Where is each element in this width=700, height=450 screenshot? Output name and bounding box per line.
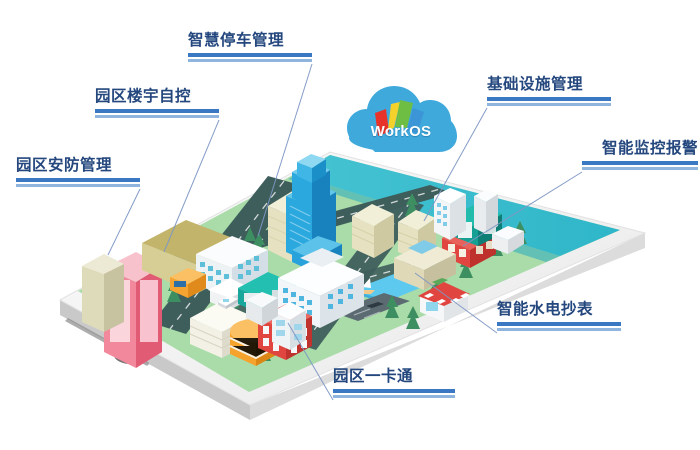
tower-grey-right: [474, 190, 498, 234]
label-metering[interactable]: 智能水电抄表: [497, 301, 621, 328]
workos-cloud-logo: WorkOS: [345, 78, 457, 160]
label-security[interactable]: 园区安防管理: [16, 157, 140, 184]
label-parking-text: 智慧停车管理: [188, 32, 312, 50]
label-security-underline: [16, 178, 140, 184]
label-building-underline: [95, 109, 219, 115]
label-infrastructure-text: 基础设施管理: [487, 76, 611, 94]
label-parking[interactable]: 智慧停车管理: [188, 32, 312, 59]
label-building[interactable]: 园区楼宇自控: [95, 88, 219, 115]
label-metering-underline: [497, 322, 621, 328]
label-metering-text: 智能水电抄表: [497, 301, 621, 319]
logo-text: WorkOS: [345, 123, 457, 140]
label-monitoring[interactable]: 智能监控报警: [582, 140, 698, 167]
diagram-stage: WorkOS 智慧停车管理园区楼宇自控园区安防管理基础设施管理智能监控报警智能水…: [0, 0, 700, 450]
label-monitoring-underline: [582, 161, 698, 167]
label-parking-underline: [188, 53, 312, 59]
label-security-text: 园区安防管理: [16, 157, 140, 175]
tower-white-right: [434, 188, 466, 240]
label-building-text: 园区楼宇自控: [95, 88, 219, 106]
label-infrastructure[interactable]: 基础设施管理: [487, 76, 611, 103]
block-beige-left: [82, 254, 124, 332]
security-line: [108, 189, 140, 255]
label-infrastructure-underline: [487, 97, 611, 103]
label-onecard-underline: [333, 389, 455, 395]
label-monitoring-text: 智能监控报警: [582, 140, 698, 158]
label-onecard[interactable]: 园区一卡通: [333, 368, 455, 395]
label-onecard-text: 园区一卡通: [333, 368, 455, 386]
